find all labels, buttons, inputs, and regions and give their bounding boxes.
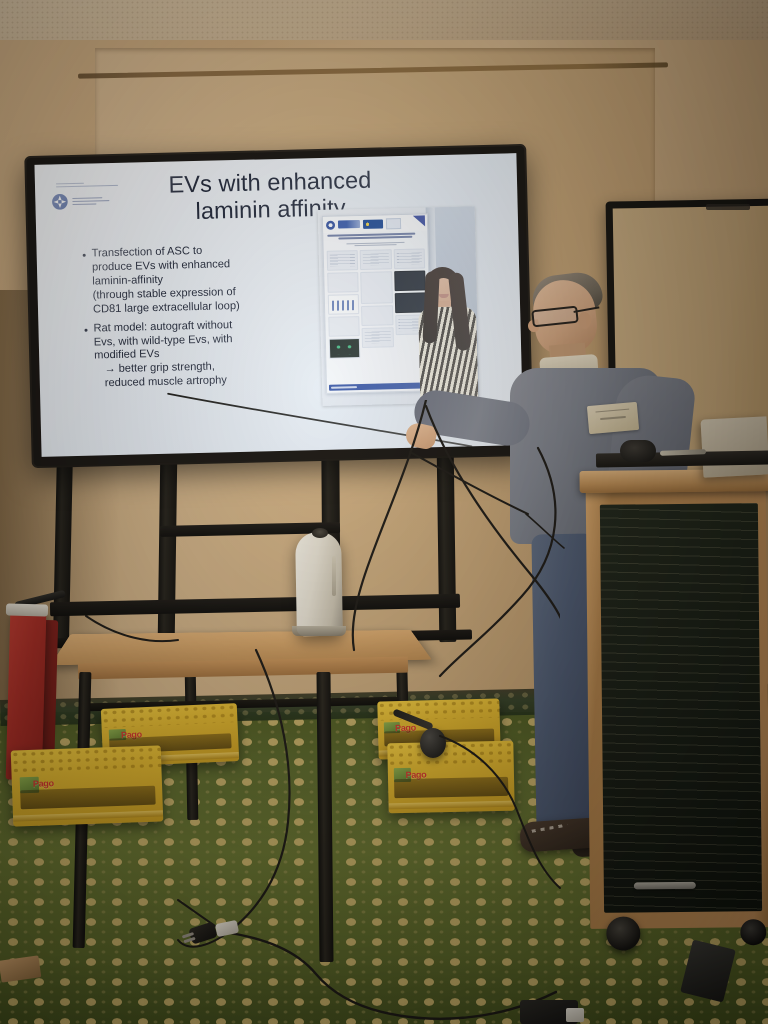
partner-logo-icon xyxy=(386,217,401,228)
poster-figure xyxy=(361,305,393,326)
poster-corner-accent xyxy=(413,215,425,226)
poster-figure xyxy=(328,316,360,337)
lectern-front-panel xyxy=(600,503,762,913)
poster-text-block xyxy=(393,248,425,269)
institution-logo-icon xyxy=(326,220,335,229)
poster-authors xyxy=(333,242,417,247)
interreg-logo-icon xyxy=(338,220,360,229)
conference-room-photo: EVs with enhanced laminin affinity Trans… xyxy=(0,0,768,1024)
boom-microphone xyxy=(420,728,446,758)
poster-figure xyxy=(361,271,393,304)
computer-mouse xyxy=(620,440,656,462)
shoe xyxy=(519,817,599,852)
speaker-top-cap xyxy=(312,528,328,538)
logo-wordmark xyxy=(72,196,109,206)
poster-column xyxy=(360,249,395,382)
beverage-crate: Pago xyxy=(11,745,164,826)
bullet-dot-icon xyxy=(84,328,87,331)
crate-rib xyxy=(389,800,515,809)
lectern-caster-wheel xyxy=(606,916,640,950)
poster-fluorescence-figure xyxy=(329,338,361,359)
crate-grid xyxy=(387,741,513,766)
bullet-text: Rat model: autograft without Evs, with w… xyxy=(93,319,233,392)
poster-text-block xyxy=(360,249,392,270)
slide-bullet: Rat model: autograft without Evs, with w… xyxy=(84,317,314,392)
poster-presentation-photo xyxy=(318,206,480,406)
crate-rib xyxy=(13,810,163,822)
whiteboard-tray xyxy=(706,204,750,210)
speaker-handle xyxy=(332,556,336,596)
eu-flag-logo-icon xyxy=(363,219,383,228)
floor-adapter xyxy=(566,1008,584,1022)
logo-pinwheel-icon xyxy=(51,193,68,210)
ear xyxy=(578,312,591,329)
banner-cap xyxy=(6,603,48,616)
poster-chart xyxy=(328,294,360,315)
poster-header xyxy=(323,214,427,233)
wooden-lectern xyxy=(585,469,768,951)
laptop xyxy=(701,416,768,477)
poster-column xyxy=(327,250,362,383)
bullet-dot-icon xyxy=(83,254,86,257)
crate-logo: Pago xyxy=(33,778,54,789)
beverage-crate: Pago xyxy=(387,741,514,814)
poster-figure xyxy=(327,272,359,293)
poster-text-block xyxy=(327,250,359,271)
bullet-text: Transfection of ASC to produce EVs with … xyxy=(92,244,240,317)
speaker-base xyxy=(292,626,346,636)
slide-bullet: Transfection of ASC to produce EVs with … xyxy=(83,242,313,317)
poster-author-person xyxy=(411,266,478,404)
lectern-handle xyxy=(634,882,696,890)
crate-grid xyxy=(11,745,162,775)
crate-slot xyxy=(20,785,156,809)
crate-slot xyxy=(394,777,508,798)
bullet-text-main: Rat model: autograft without Evs, with w… xyxy=(93,319,232,362)
display-stand-leg xyxy=(437,446,457,642)
bullet-subtext: → better grip strength, reduced muscle a… xyxy=(94,361,233,392)
lectern-caster-wheel xyxy=(740,919,766,945)
slide-bullet-list: Transfection of ASC to produce EVs with … xyxy=(83,242,315,397)
name-badge xyxy=(587,402,639,434)
slide-title-line1: EVs with enhanced xyxy=(168,167,371,198)
poster-text-block xyxy=(362,327,394,348)
poster-title xyxy=(327,232,423,239)
